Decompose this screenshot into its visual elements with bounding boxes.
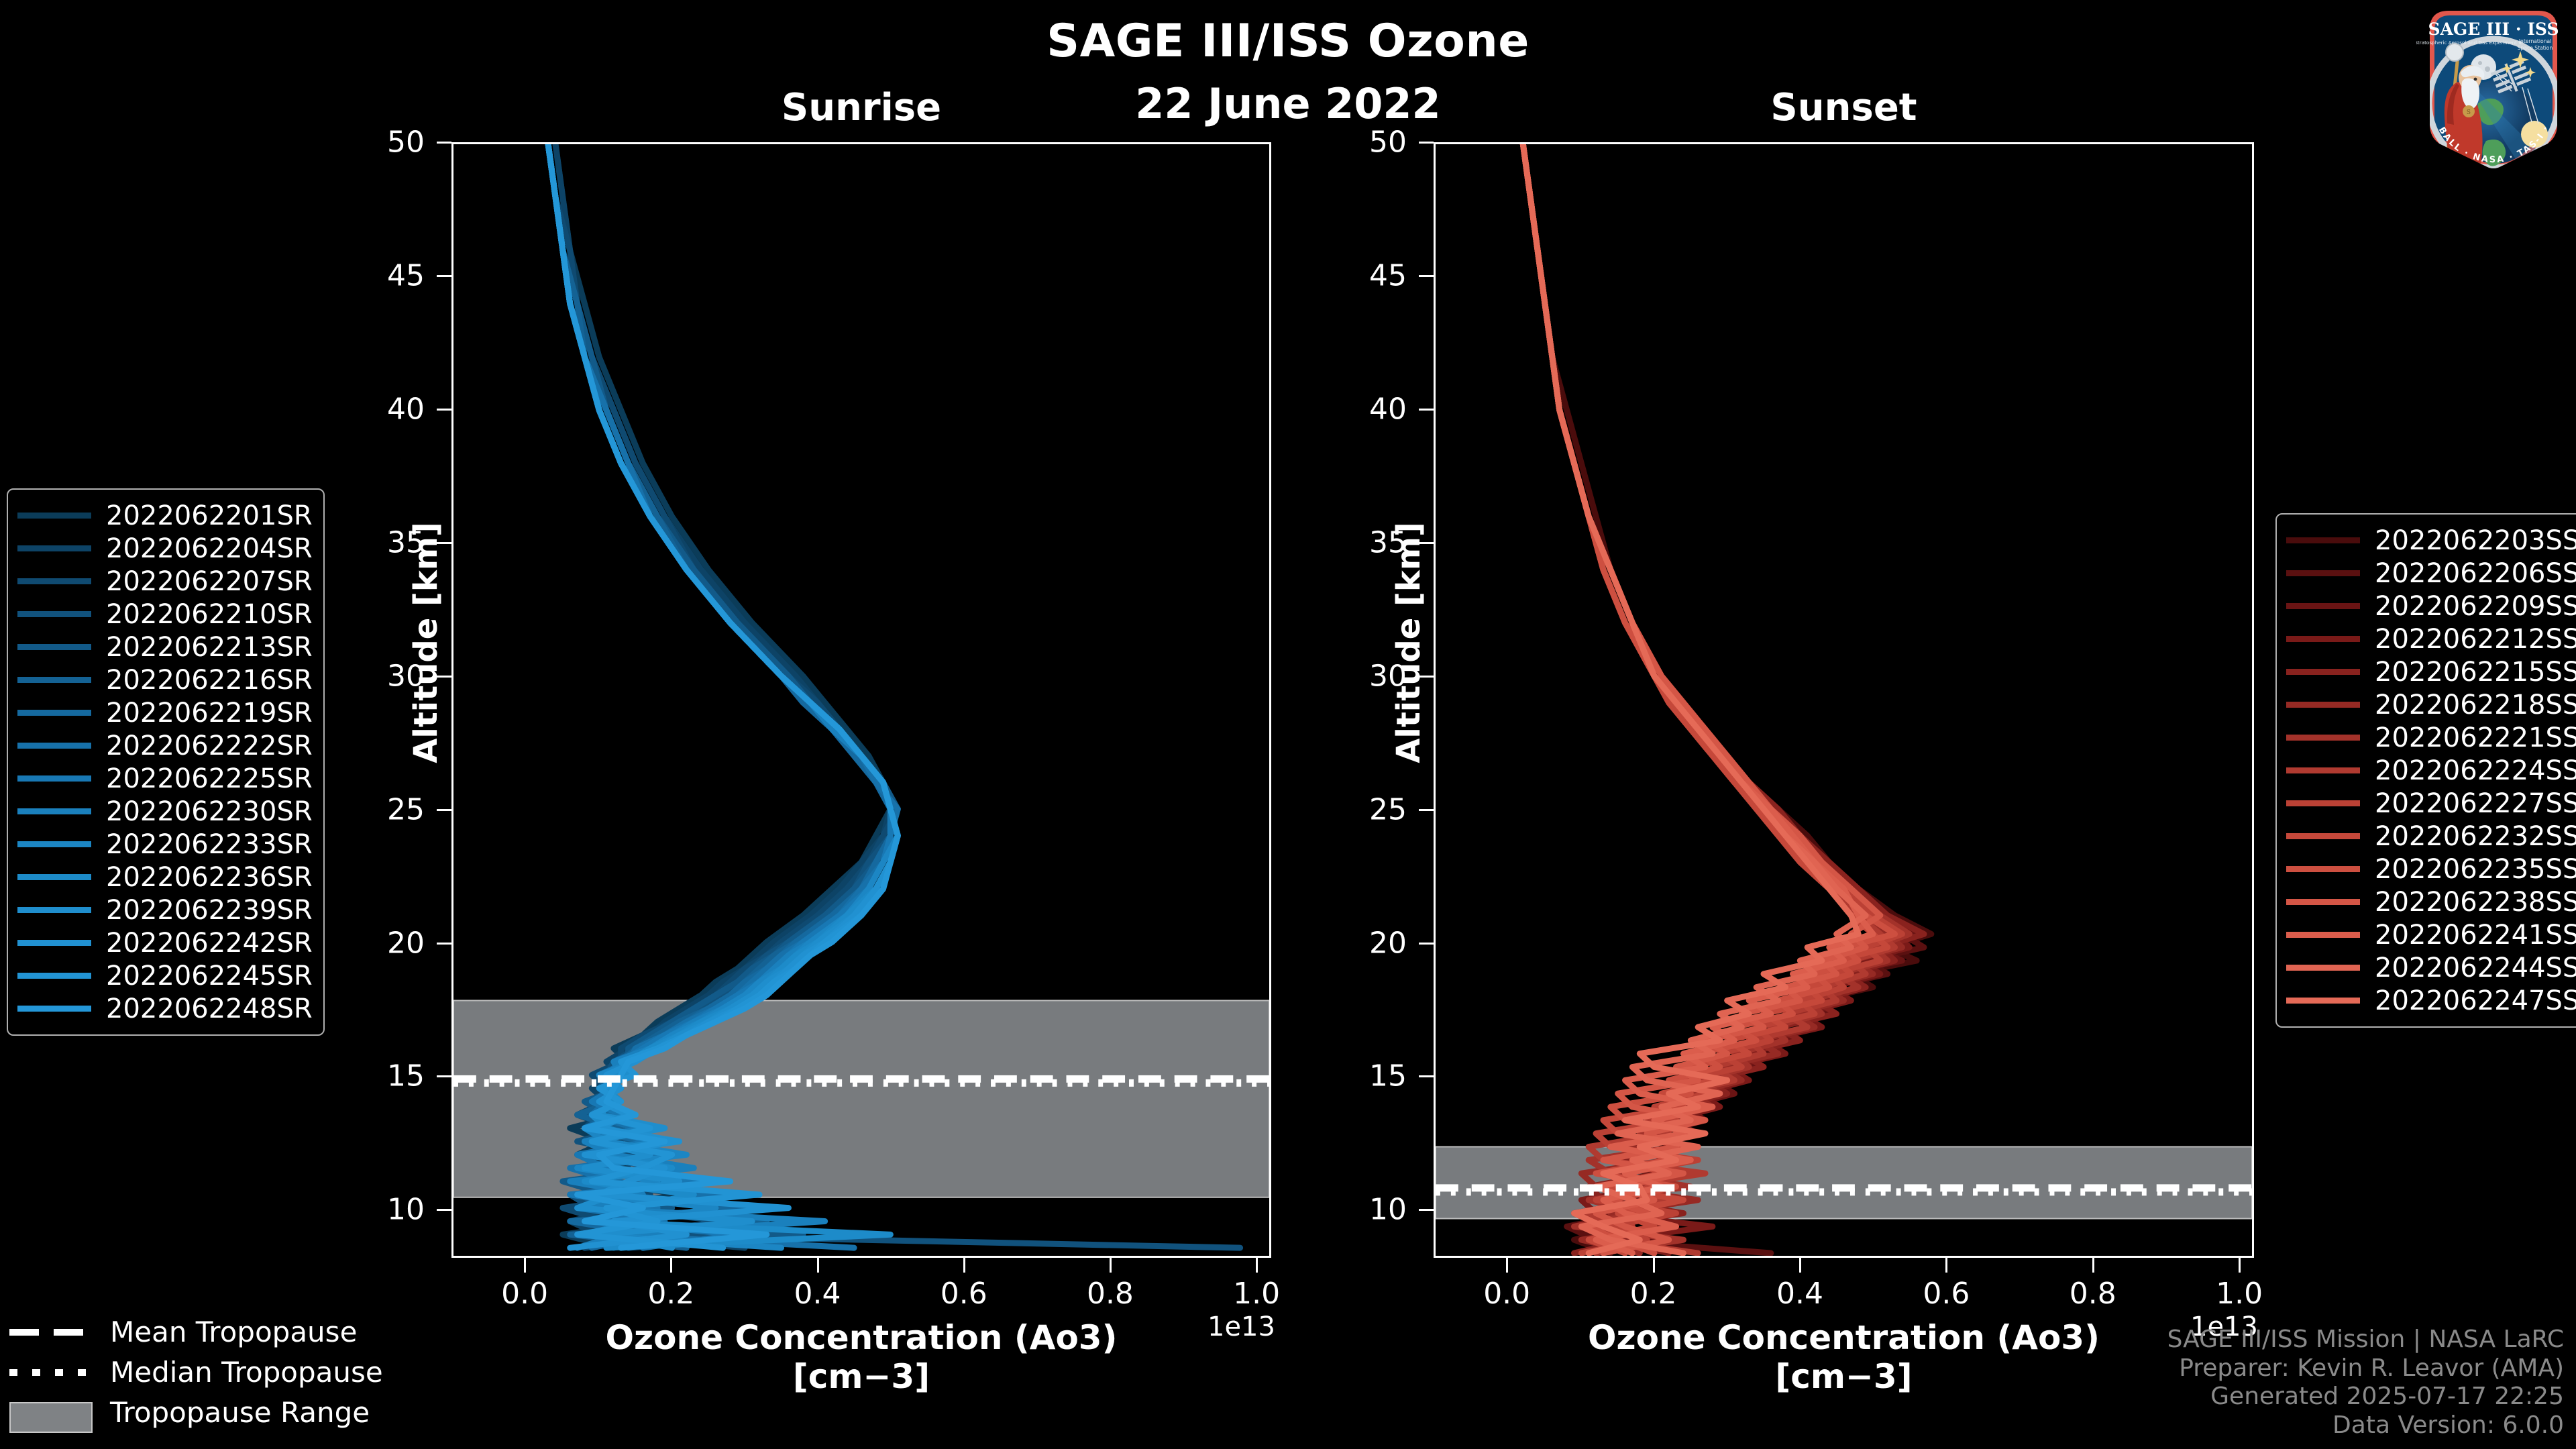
y-tick bbox=[1419, 809, 1434, 811]
legend-label: 2022062219SR bbox=[106, 698, 313, 729]
x-tick-label: 0.4 bbox=[1746, 1277, 1854, 1311]
x-axis-label-right: Ozone Concentration (Ao3) [cm−3] bbox=[1434, 1318, 2254, 1396]
legend-color-swatch bbox=[17, 874, 91, 880]
legend-item-mean-tropopause: Mean Tropopause bbox=[9, 1311, 383, 1352]
legend-item[interactable]: 2022062225SR bbox=[17, 762, 313, 795]
legend-item[interactable]: 2022062210SR bbox=[17, 598, 313, 631]
legend-color-swatch bbox=[17, 644, 91, 650]
plot-area-sunset bbox=[1434, 142, 2254, 1258]
y-tick-label: 10 bbox=[1326, 1193, 1407, 1227]
legend-label: 2022062221SS bbox=[2375, 722, 2576, 753]
legend-item[interactable]: 2022062232SS bbox=[2286, 820, 2576, 853]
y-tick-label: 20 bbox=[344, 926, 425, 960]
y-tick-label: 25 bbox=[1326, 792, 1407, 826]
x-tick-label: 0.0 bbox=[1453, 1277, 1560, 1311]
x-axis-label-right-line1: Ozone Concentration (Ao3) bbox=[1588, 1318, 2100, 1357]
x-tick bbox=[963, 1258, 965, 1273]
legend-color-swatch bbox=[17, 677, 91, 683]
legend-label: 2022062210SR bbox=[106, 599, 313, 630]
legend-color-swatch bbox=[17, 1006, 91, 1012]
legend-label: 2022062207SR bbox=[106, 566, 313, 597]
legend-color-swatch bbox=[2286, 998, 2360, 1004]
sunrise-profile-lines bbox=[453, 144, 1269, 1256]
legend-item[interactable]: 2022062215SS bbox=[2286, 655, 2576, 688]
legend-item[interactable]: 2022062244SS bbox=[2286, 951, 2576, 984]
legend-item[interactable]: 2022062245SR bbox=[17, 959, 313, 992]
legend-label: 2022062203SS bbox=[2375, 525, 2576, 556]
legend-label: 2022062224SS bbox=[2375, 755, 2576, 786]
legend-label: 2022062239SR bbox=[106, 895, 313, 926]
x-tick bbox=[1799, 1258, 1801, 1273]
x-tick bbox=[524, 1258, 526, 1273]
legend-color-swatch bbox=[17, 710, 91, 716]
x-axis-label-right-line2: [cm−3] bbox=[1775, 1357, 1912, 1396]
x-tick-label: 1.0 bbox=[2186, 1277, 2293, 1311]
y-tick-label: 10 bbox=[344, 1193, 425, 1227]
legend-color-swatch bbox=[17, 611, 91, 617]
y-tick bbox=[437, 142, 451, 144]
logo-title: SAGE III · ISS bbox=[2428, 19, 2559, 39]
metadata-generated: Generated 2025-07-17 22:25 bbox=[2167, 1383, 2564, 1411]
y-tick bbox=[437, 1209, 451, 1211]
legend-color-swatch bbox=[2286, 603, 2360, 609]
legend-item[interactable]: 2022062230SR bbox=[17, 795, 313, 828]
panel-title-sunset: Sunset bbox=[1434, 86, 2254, 129]
legend-item[interactable]: 2022062218SS bbox=[2286, 688, 2576, 721]
x-tick-label: 0.6 bbox=[910, 1277, 1018, 1311]
legend-item[interactable]: 2022062212SS bbox=[2286, 623, 2576, 655]
y-tick bbox=[437, 275, 451, 277]
legend-color-swatch bbox=[17, 513, 91, 519]
filled-rectangle-icon bbox=[9, 1402, 95, 1422]
x-tick-label: 0.8 bbox=[1057, 1277, 1164, 1311]
legend-color-swatch bbox=[2286, 932, 2360, 938]
legend-item[interactable]: 2022062248SR bbox=[17, 992, 313, 1025]
legend-color-swatch bbox=[2286, 866, 2360, 872]
legend-label: 2022062222SR bbox=[106, 731, 313, 761]
logo-subtitle-left: Stratospheric Aerosol and Gas Experiment… bbox=[2416, 40, 2523, 46]
legend-color-swatch bbox=[17, 743, 91, 749]
plot-area-sunrise bbox=[451, 142, 1271, 1258]
legend-label: 2022062242SR bbox=[106, 928, 313, 959]
y-tick bbox=[437, 1075, 451, 1077]
y-tick bbox=[437, 409, 451, 411]
legend-label: 2022062225SR bbox=[106, 763, 313, 794]
x-tick bbox=[670, 1258, 672, 1273]
legend-color-swatch bbox=[2286, 735, 2360, 741]
legend-label: 2022062230SR bbox=[106, 796, 313, 827]
legend-item[interactable]: 2022062206SS bbox=[2286, 557, 2576, 590]
x-tick-label: 0.2 bbox=[1600, 1277, 1707, 1311]
legend-label-tropopause-range: Tropopause Range bbox=[110, 1396, 370, 1429]
sage-iii-iss-mission-patch-logo: S SAGE III · ISS Stratospheric Aerosol a… bbox=[2416, 3, 2571, 170]
y-tick bbox=[1419, 943, 1434, 945]
legend-color-swatch bbox=[17, 940, 91, 946]
legend-label: 2022062215SS bbox=[2375, 657, 2576, 688]
y-axis-label-left: Altitude [km] bbox=[407, 522, 445, 763]
metadata-preparer: Preparer: Kevin R. Leavor (AMA) bbox=[2167, 1354, 2564, 1383]
logo-subtitle-right-1: International bbox=[2519, 38, 2551, 44]
legend-item-tropopause-range: Tropopause Range bbox=[9, 1392, 383, 1432]
x-axis-label-left: Ozone Concentration (Ao3) [cm−3] bbox=[451, 1318, 1271, 1396]
legend-tropopause: Mean Tropopause Median Tropopause Tropop… bbox=[9, 1311, 383, 1432]
y-tick bbox=[1419, 1075, 1434, 1077]
legend-color-swatch bbox=[17, 808, 91, 814]
legend-label: 2022062201SR bbox=[106, 500, 313, 531]
legend-item[interactable]: 2022062221SS bbox=[2286, 721, 2576, 754]
legend-item[interactable]: 2022062201SR bbox=[17, 499, 313, 532]
x-tick-label: 0.8 bbox=[2039, 1277, 2147, 1311]
legend-label: 2022062235SS bbox=[2375, 854, 2576, 885]
legend-item[interactable]: 2022062224SS bbox=[2286, 754, 2576, 787]
legend-color-swatch bbox=[2286, 537, 2360, 543]
y-tick-label: 45 bbox=[344, 258, 425, 292]
legend-item[interactable]: 2022062222SR bbox=[17, 729, 313, 762]
legend-color-swatch bbox=[17, 841, 91, 847]
legend-color-swatch bbox=[2286, 702, 2360, 708]
legend-label: 2022062206SS bbox=[2375, 558, 2576, 589]
y-tick-label: 45 bbox=[1326, 258, 1407, 292]
y-tick-label: 50 bbox=[1326, 125, 1407, 160]
legend-color-swatch bbox=[2286, 767, 2360, 773]
tropopause-range-band bbox=[1436, 1146, 2252, 1218]
x-tick bbox=[1110, 1258, 1112, 1273]
metadata-mission: SAGE III/ISS Mission | NASA LaRC bbox=[2167, 1326, 2564, 1354]
y-tick bbox=[1419, 1209, 1434, 1211]
y-axis-label-right: Altitude [km] bbox=[1390, 522, 1428, 763]
legend-label: 2022062245SR bbox=[106, 961, 313, 991]
legend-color-swatch bbox=[2286, 899, 2360, 905]
legend-label: 2022062236SR bbox=[106, 862, 313, 893]
y-tick-label: 20 bbox=[1326, 926, 1407, 960]
x-axis-offset-left: 1e13 bbox=[1207, 1311, 1275, 1342]
x-tick bbox=[1653, 1258, 1655, 1273]
y-tick-label: 25 bbox=[344, 792, 425, 826]
legend-label: 2022062244SS bbox=[2375, 953, 2576, 983]
y-tick-label: 40 bbox=[1326, 392, 1407, 426]
legend-item[interactable]: 2022062238SS bbox=[2286, 885, 2576, 918]
legend-item[interactable]: 2022062242SR bbox=[17, 926, 313, 959]
x-tick-label: 1.0 bbox=[1203, 1277, 1310, 1311]
metadata-data-version: Data Version: 6.0.0 bbox=[2167, 1411, 2564, 1440]
legend-color-swatch bbox=[17, 973, 91, 979]
legend-label: 2022062233SR bbox=[106, 829, 313, 860]
x-tick-label: 0.6 bbox=[1892, 1277, 2000, 1311]
legend-label: 2022062216SR bbox=[106, 665, 313, 696]
legend-item[interactable]: 2022062204SR bbox=[17, 532, 313, 565]
legend-item[interactable]: 2022062216SR bbox=[17, 663, 313, 696]
legend-label: 2022062209SS bbox=[2375, 591, 2576, 622]
dotted-line-icon bbox=[9, 1362, 95, 1382]
legend-item[interactable]: 2022062241SS bbox=[2286, 918, 2576, 951]
legend-item[interactable]: 2022062209SS bbox=[2286, 590, 2576, 623]
legend-item-median-tropopause: Median Tropopause bbox=[9, 1352, 383, 1392]
x-tick bbox=[1945, 1258, 1947, 1273]
page-title: SAGE III/ISS Ozone bbox=[0, 15, 2576, 68]
legend-label: 2022062218SS bbox=[2375, 690, 2576, 720]
y-tick bbox=[437, 943, 451, 945]
x-tick bbox=[817, 1258, 819, 1273]
x-tick-label: 0.4 bbox=[764, 1277, 871, 1311]
legend-item[interactable]: 2022062247SS bbox=[2286, 984, 2576, 1017]
x-tick bbox=[2239, 1258, 2241, 1273]
legend-label: 2022062204SR bbox=[106, 533, 313, 564]
legend-color-swatch bbox=[17, 907, 91, 913]
y-tick bbox=[1419, 275, 1434, 277]
legend-color-swatch bbox=[2286, 570, 2360, 576]
legend-item[interactable]: 2022062207SR bbox=[17, 565, 313, 598]
legend-color-swatch bbox=[2286, 800, 2360, 806]
legend-item[interactable]: 2022062213SR bbox=[17, 631, 313, 663]
legend-label-mean-tropopause: Mean Tropopause bbox=[110, 1316, 357, 1348]
legend-color-swatch bbox=[17, 775, 91, 782]
x-tick-label: 0.2 bbox=[617, 1277, 724, 1311]
legend-label: 2022062227SS bbox=[2375, 788, 2576, 819]
y-tick bbox=[1419, 409, 1434, 411]
legend-label: 2022062247SS bbox=[2375, 985, 2576, 1016]
x-axis-label-left-line2: [cm−3] bbox=[793, 1357, 930, 1396]
panel-title-sunrise: Sunrise bbox=[451, 86, 1271, 129]
x-axis-label-left-line1: Ozone Concentration (Ao3) bbox=[606, 1318, 1118, 1357]
legend-item[interactable]: 2022062239SR bbox=[17, 894, 313, 926]
logo-subtitle-right-2: Space Station bbox=[2518, 45, 2553, 51]
sunset-profile-lines bbox=[1436, 144, 2252, 1256]
legend-item[interactable]: 2022062227SS bbox=[2286, 787, 2576, 820]
legend-item[interactable]: 2022062203SS bbox=[2286, 524, 2576, 557]
x-tick bbox=[1256, 1258, 1258, 1273]
legend-sunrise[interactable]: 2022062201SR2022062204SR2022062207SR2022… bbox=[7, 488, 325, 1036]
svg-text:S: S bbox=[2467, 109, 2471, 116]
legend-color-swatch bbox=[17, 545, 91, 551]
legend-item[interactable]: 2022062219SR bbox=[17, 696, 313, 729]
legend-sunset[interactable]: 2022062203SS2022062206SS2022062209SS2022… bbox=[2275, 513, 2576, 1028]
legend-label: 2022062232SS bbox=[2375, 821, 2576, 852]
x-tick-label: 0.0 bbox=[471, 1277, 578, 1311]
legend-label: 2022062241SS bbox=[2375, 920, 2576, 951]
x-tick bbox=[1506, 1258, 1508, 1273]
y-tick-label: 50 bbox=[344, 125, 425, 160]
dashed-line-icon bbox=[9, 1322, 95, 1342]
legend-label-median-tropopause: Median Tropopause bbox=[110, 1356, 383, 1389]
profile-line bbox=[1523, 144, 1858, 1253]
legend-item[interactable]: 2022062236SR bbox=[17, 861, 313, 894]
legend-color-swatch bbox=[2286, 636, 2360, 642]
y-tick-label: 15 bbox=[344, 1059, 425, 1093]
x-tick bbox=[2092, 1258, 2094, 1273]
legend-item[interactable]: 2022062235SS bbox=[2286, 853, 2576, 885]
legend-label: 2022062248SR bbox=[106, 994, 313, 1024]
y-tick bbox=[437, 809, 451, 811]
y-tick-label: 15 bbox=[1326, 1059, 1407, 1093]
legend-color-swatch bbox=[2286, 833, 2360, 839]
y-tick bbox=[1419, 142, 1434, 144]
legend-color-swatch bbox=[2286, 965, 2360, 971]
legend-label: 2022062238SS bbox=[2375, 887, 2576, 918]
y-tick-label: 40 bbox=[344, 392, 425, 426]
legend-label: 2022062213SR bbox=[106, 632, 313, 663]
legend-color-swatch bbox=[2286, 669, 2360, 675]
legend-label: 2022062212SS bbox=[2375, 624, 2576, 655]
legend-item[interactable]: 2022062233SR bbox=[17, 828, 313, 861]
legend-color-swatch bbox=[17, 578, 91, 584]
metadata-block: SAGE III/ISS Mission | NASA LaRC Prepare… bbox=[2167, 1326, 2564, 1440]
